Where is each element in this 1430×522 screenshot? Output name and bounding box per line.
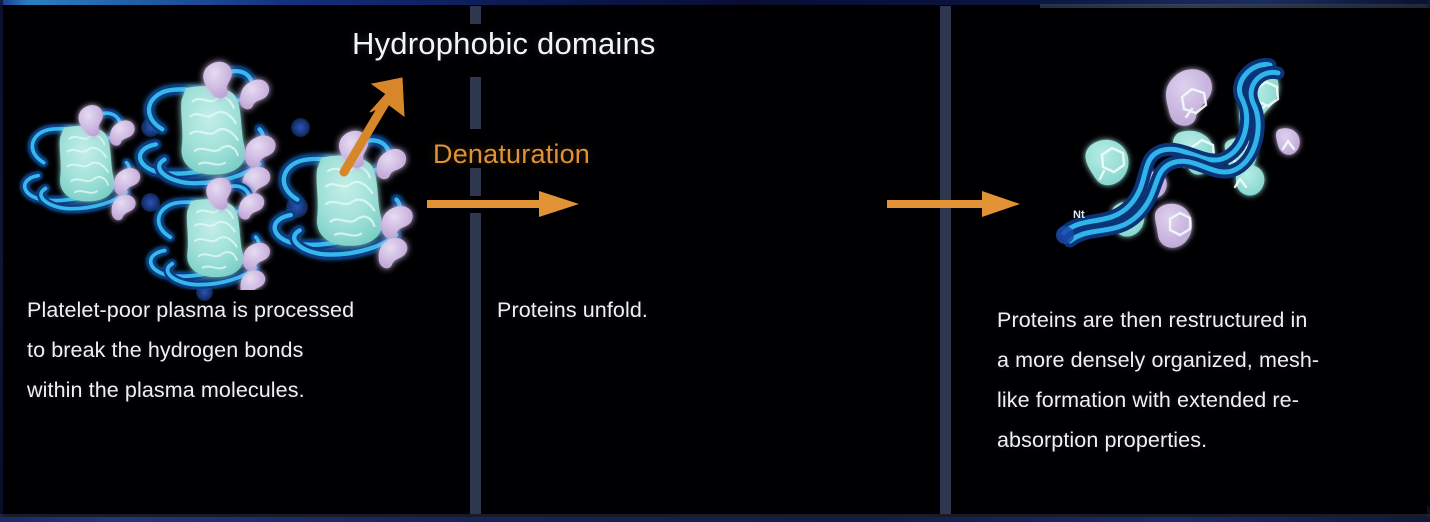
plasma-denaturation-diagram: Nt — [0, 0, 1430, 522]
caption-line: Platelet-poor plasma is processed — [27, 290, 447, 330]
caption-line: Proteins are then restructured in — [997, 300, 1397, 340]
divider-segment — [470, 6, 481, 24]
protein-molecule — [151, 178, 270, 290]
restructuring-arrow-icon — [887, 190, 1022, 218]
panel-2-caption: Proteins unfold. — [497, 290, 897, 330]
hydrophobic-domain-pointer-icon — [330, 72, 412, 180]
divider-segment — [470, 77, 481, 129]
protein-molecule — [140, 62, 276, 197]
panel-1-caption: Platelet-poor plasma is processed to bre… — [27, 290, 447, 410]
caption-line: Proteins unfold. — [497, 290, 897, 330]
panel-divider-2 — [940, 6, 951, 514]
panel-folded-proteins — [0, 0, 470, 522]
page-title: Hydrophobic domains — [352, 26, 656, 62]
protein-molecule — [25, 105, 140, 220]
caption-line: to break the hydrogen bonds — [27, 330, 447, 370]
panel-unfolded-protein: Nt — [481, 0, 940, 522]
caption-line: a more densely organized, mesh- — [997, 340, 1397, 380]
denaturation-label: Denaturation — [433, 139, 590, 170]
caption-line: like formation with extended re- — [997, 380, 1397, 420]
panel-3-caption: Proteins are then restructured in a more… — [997, 300, 1397, 460]
caption-line: absorption properties. — [997, 420, 1397, 460]
caption-line: within the plasma molecules. — [27, 370, 447, 410]
denaturation-arrow-icon — [427, 190, 582, 218]
divider-segment — [470, 213, 481, 514]
